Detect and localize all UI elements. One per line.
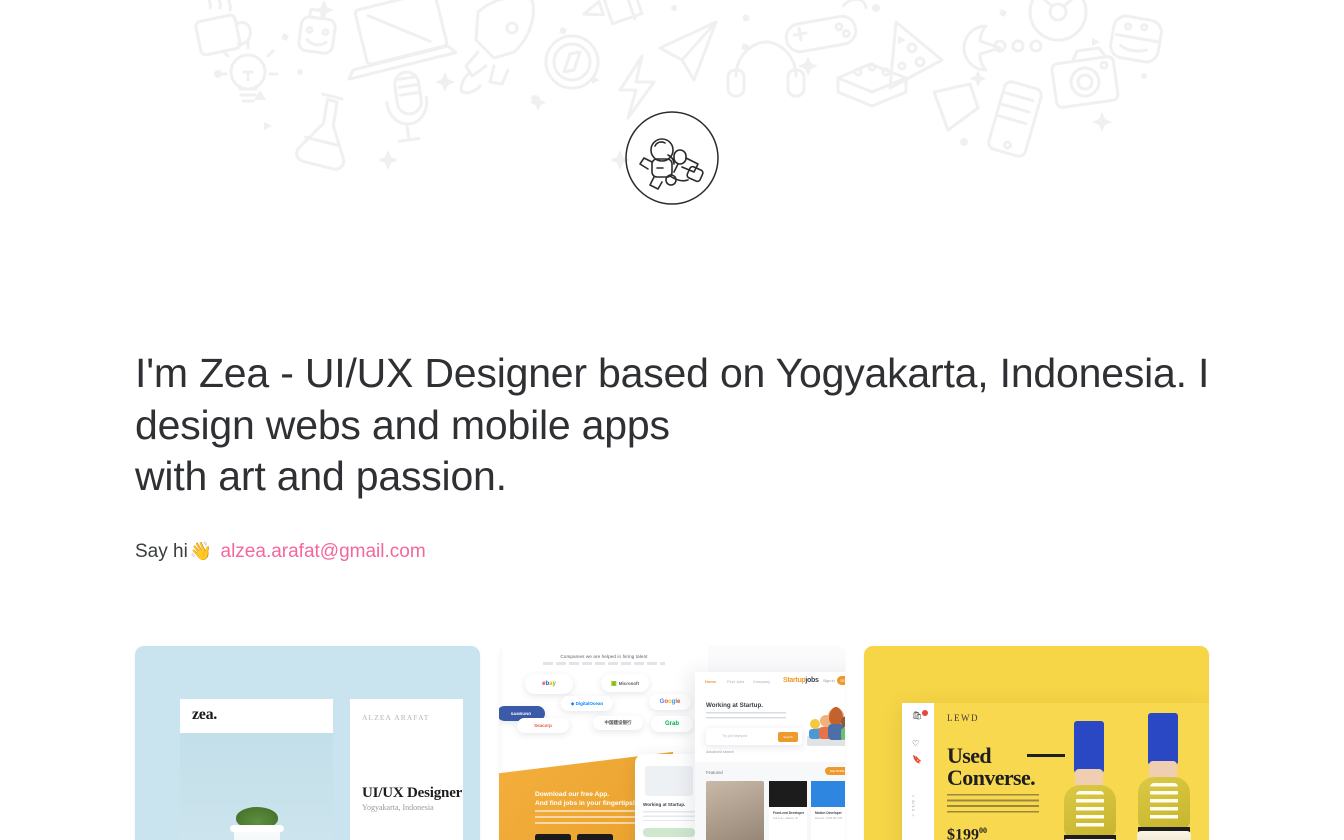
contact-line: Say hi👋 alzea.arafat@gmail.com — [135, 538, 1215, 565]
camera-icon — [1051, 47, 1119, 108]
product-price: $19900 — [947, 826, 987, 840]
job-search-box: Try job keyword Search — [706, 728, 802, 745]
page-title: I'm Zea - UI/UX Designer based on Yogyak… — [135, 348, 1215, 503]
smartphone-icon — [987, 80, 1043, 158]
pizza-icon — [890, 22, 942, 88]
converse-shop-mockup: 🛍 ♡ 🔖 « 8/12 » LEWD Used Converse. $1990… — [902, 703, 1209, 840]
paper-plane-icon — [660, 22, 716, 80]
app-store-badge: App Store — [535, 834, 571, 840]
startup-jobs-logo: Startupjobs — [783, 677, 819, 684]
portfolio-card-grid: zea. ALZEA ARAFAT UI/UX Designer Yogyaka… — [135, 646, 1210, 840]
logos-heading: Companies we are helped in hiring talent — [529, 654, 679, 659]
featured-job-card: Motion Developer Remote • PAID MO-FRI — [811, 781, 845, 840]
nav-item-find-jobs: Find Jobs — [727, 679, 744, 684]
team-illustration — [803, 702, 845, 749]
advanced-search-link: Advanced search — [706, 750, 734, 754]
portfolio-card-zea-branding[interactable]: zea. ALZEA ARAFAT UI/UX Designer Yogyaka… — [135, 646, 480, 840]
logo-microsoft: ▣Microsoft — [601, 674, 649, 692]
pacman-icon — [964, 26, 1041, 70]
job-company: Remote • PAID MO-FRI — [815, 817, 842, 820]
lightning-bolt-icon — [620, 56, 654, 118]
headphones-icon — [728, 42, 804, 96]
portfolio-card-used-converse[interactable]: 🛍 ♡ 🔖 « 8/12 » LEWD Used Converse. $1990… — [864, 646, 1209, 840]
shopping-bag-icon: 🛍 — [912, 711, 922, 720]
lego-head-icon — [298, 9, 336, 54]
portfolio-card-startup-jobs[interactable]: Companies we are helped in hiring talent… — [499, 646, 845, 840]
featured-label: Featured — [706, 770, 723, 775]
flask-icon — [295, 94, 358, 171]
lightbulb-icon — [219, 41, 277, 101]
microphone-icon — [387, 71, 430, 142]
search-button: Search — [778, 732, 798, 742]
heart-icon: ♡ — [912, 739, 919, 748]
bookmark-icon: 🔖 — [912, 755, 922, 764]
site-hero-heading: Working at Startup. — [706, 702, 792, 709]
nav-item-company: Company — [753, 679, 770, 684]
job-company: Full time • Jakarta, ID — [773, 817, 798, 820]
diamond-icon — [934, 84, 978, 130]
say-hi-label: Say hi — [135, 541, 188, 562]
burger-icon — [1109, 14, 1164, 64]
startup-jobs-website-panel: Home Find Jobs Company Startupjobs Sign … — [695, 672, 845, 840]
logo-digitalocean: ◈ DigitalOcean — [561, 696, 613, 711]
logo-grab: Grab — [651, 716, 693, 732]
logo-china: 中国建设银行 — [593, 716, 643, 730]
business-card-front: zea. — [180, 699, 333, 840]
card-owner-name: ALZEA ARAFAT — [362, 713, 429, 722]
compass-icon — [546, 36, 598, 88]
pencil-icon — [584, 0, 650, 33]
site-navbar: Home Find Jobs Company Startupjobs Sign … — [695, 672, 845, 691]
cart-badge-dot — [922, 710, 928, 716]
astronaut-glyph — [640, 139, 704, 189]
converse-shoes-photo — [1052, 703, 1209, 840]
succulent-plant-photo — [228, 807, 286, 840]
coffee-mug-icon — [195, 0, 253, 56]
business-card-back: ALZEA ARAFAT UI/UX Designer Yogyakarta, … — [350, 699, 463, 840]
phone-mockup: Working at Startup. — [635, 754, 703, 840]
zea-brand-mark: zea. — [192, 706, 217, 724]
search-input-placeholder: Try job keyword — [722, 734, 747, 738]
featured-jobs-section: Featured SEE MORE Front-end Developer Fu… — [695, 762, 845, 840]
astronaut-circle-logo[interactable] — [624, 110, 720, 206]
rocket-icon — [461, 0, 533, 93]
see-more-button: SEE MORE — [825, 767, 845, 775]
shop-brand-logo: LEWD — [947, 713, 979, 723]
job-title: Front-end Developer — [773, 811, 804, 815]
gamepad-icon — [784, 0, 866, 54]
startup-jobs-landing-panel: Companies we are helped in hiring talent… — [503, 646, 708, 840]
item-counter: « 8/12 » — [911, 795, 916, 817]
phone-heading: Working at Startup. — [643, 802, 695, 807]
card-role: UI/UX Designer — [362, 785, 462, 802]
lego-brick-icon — [838, 64, 906, 106]
hero-content: I'm Zea - UI/UX Designer based on Yogyak… — [135, 348, 1215, 565]
google-play-badge: Google Play — [577, 834, 613, 840]
featured-job-card: Front-end Developer Full time • Jakarta,… — [769, 781, 807, 840]
logo-sea: Seacorp — [517, 718, 569, 733]
portfolio-landing-page: I'm Zea - UI/UX Designer based on Yogyak… — [0, 0, 1344, 840]
logo-ebay: ebay — [525, 674, 573, 694]
job-title: Motion Developer — [815, 811, 842, 815]
featured-job-card — [706, 781, 764, 840]
left-icon-rail: 🛍 ♡ 🔖 « 8/12 » — [902, 703, 934, 840]
nav-item-home: Home — [705, 679, 716, 684]
email-link[interactable]: alzea.arafat@gmail.com — [221, 541, 426, 562]
cd-icon — [1030, 0, 1086, 40]
laptop-icon — [347, 0, 456, 79]
card-location: Yogyakarta, Indonesia — [362, 803, 434, 812]
logo-google: Google — [649, 694, 691, 710]
waving-hand-icon: 👋 — [190, 541, 212, 561]
sign-up-button: SIGN UP — [837, 676, 845, 685]
sign-in-link: Sign in — [823, 679, 835, 683]
product-heading-line2: Converse. — [947, 765, 1035, 790]
